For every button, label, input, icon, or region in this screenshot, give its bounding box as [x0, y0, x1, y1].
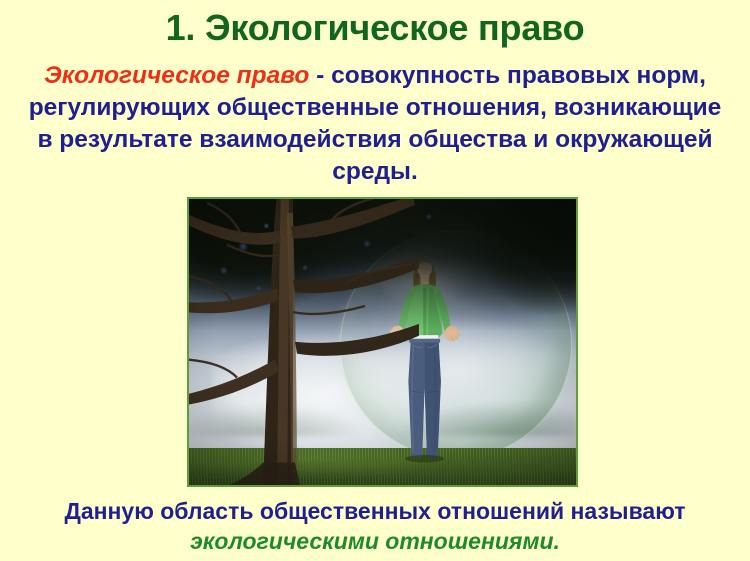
definition-paragraph: Экологическое право - совокупность право… [26, 60, 724, 188]
conclusion-line-1: Данную область общественных отношений на… [64, 498, 685, 524]
page-title: 1. Экологическое право [0, 4, 750, 52]
photo-frame [187, 197, 578, 487]
conclusion-line-2: экологическими отношениями. [16, 526, 734, 556]
conclusion-paragraph: Данную область общественных отношений на… [16, 496, 734, 556]
slide: 1. Экологическое право Экологическое пра… [0, 0, 750, 561]
tree-canopy-right [413, 199, 576, 353]
definition-term: Экологическое право [44, 62, 309, 89]
tree-trunk [189, 199, 421, 485]
photo-illustration [189, 199, 576, 485]
